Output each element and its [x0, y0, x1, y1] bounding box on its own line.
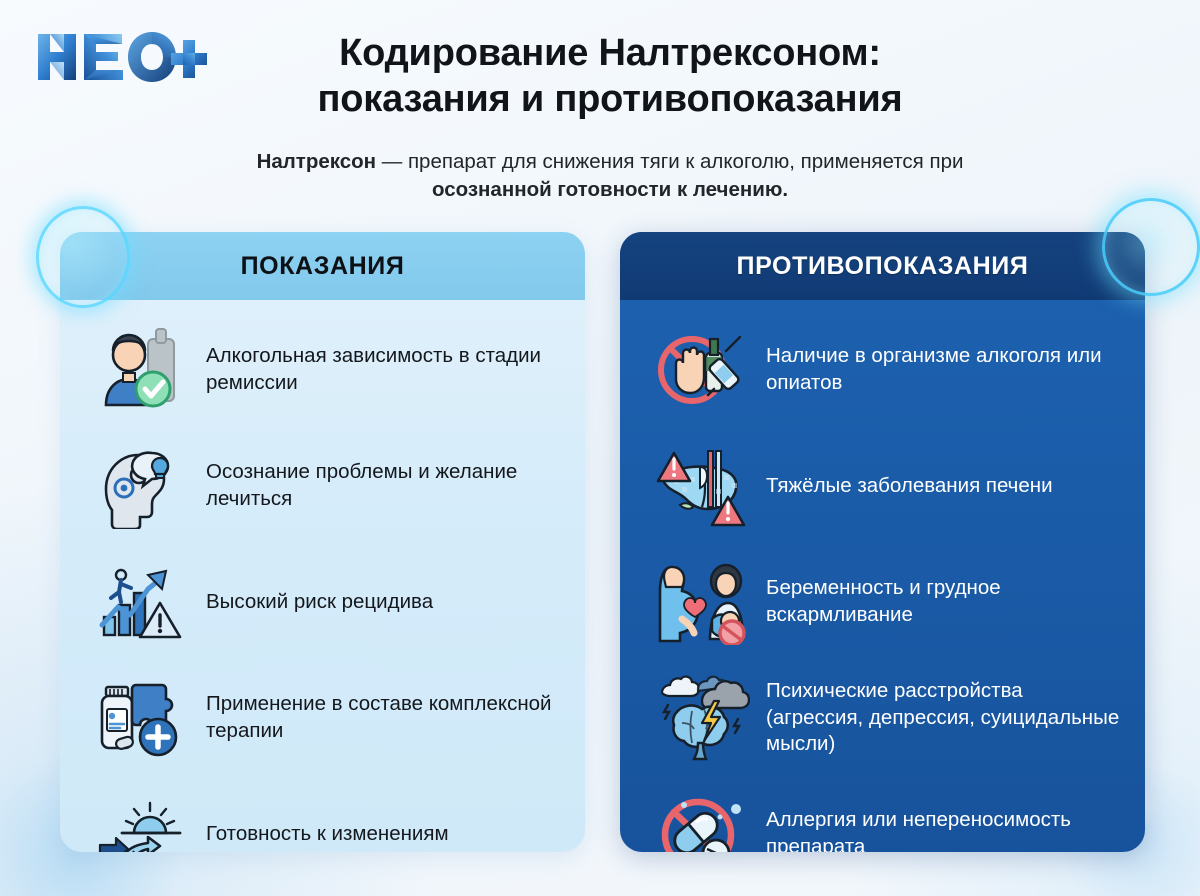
card-indications-heading: ПОКАЗАНИЯ [60, 232, 585, 300]
list-item: Аллергия или непереносимость препарата [620, 776, 1145, 852]
page-title-line2: показания и противопоказания [220, 76, 1000, 122]
card-indications: ПОКАЗАНИЯ Алкогольная зависимость в [60, 232, 585, 852]
pregnancy-breastfeeding-icon [654, 556, 750, 648]
list-item: Осознание проблемы и желание лечиться [60, 428, 585, 544]
list-item: Высокий риск рецидива [60, 544, 585, 660]
sunrise-road-arrow-icon [94, 788, 190, 852]
contraindications-list: Наличие в организме алкоголя или опиатов [620, 300, 1145, 852]
no-alcohol-hand-syringe-icon [654, 324, 750, 416]
list-item-label: Психические расстройства (агрессия, депр… [750, 678, 1121, 758]
list-item: Готовность к изменениям [60, 776, 585, 852]
page-title-line1: Кодирование Налтрексоном: [339, 32, 881, 74]
indications-list: Алкогольная зависимость в стадии ремисси… [60, 300, 585, 852]
list-item-label: Применение в составе комплексной терапии [190, 691, 561, 744]
list-item-label: Готовность к изменениям [190, 821, 561, 848]
page-subtitle: Налтрексон — препарат для снижения тяги … [225, 148, 995, 205]
list-item-label: Наличие в организме алкоголя или опиатов [750, 343, 1121, 396]
brain-storm-icon [654, 672, 750, 764]
list-item-label: Алкогольная зависимость в стадии ремисси… [190, 343, 561, 396]
rising-chart-warning-icon [94, 556, 190, 648]
brand-logo [32, 26, 212, 88]
infographic-root: Кодирование Налтрексоном: показания и пр… [0, 0, 1200, 896]
list-item-label: Тяжёлые заболевания печени [750, 473, 1121, 500]
list-item-label: Осознание проблемы и желание лечиться [190, 459, 561, 512]
medicine-bottle-puzzle-cross-icon [94, 672, 190, 764]
card-contraindications: ПРОТИВОПОКАЗАНИЯ [620, 232, 1145, 852]
list-item-label: Высокий риск рецидива [190, 589, 561, 616]
page-title: Кодирование Налтрексоном: показания и пр… [220, 30, 1000, 123]
list-item-label: Беременность и грудное вскармливание [750, 575, 1121, 628]
card-contraindications-heading: ПРОТИВОПОКАЗАНИЯ [620, 232, 1145, 300]
subtitle-mid: — препарат для снижения тяги к алкоголю,… [376, 150, 963, 173]
liver-warning-icon [654, 440, 750, 532]
head-gears-lightbulb-icon [94, 440, 190, 532]
subtitle-lead: Налтрексон [257, 150, 377, 173]
list-item-label: Аллергия или непереносимость препарата [750, 807, 1121, 852]
list-item: Тяжёлые заболевания печени [620, 428, 1145, 544]
person-bottle-check-icon [94, 324, 190, 416]
list-item: Психические расстройства (агрессия, депр… [620, 660, 1145, 776]
list-item: Алкогольная зависимость в стадии ремисси… [60, 312, 585, 428]
no-pills-allergy-icon [654, 788, 750, 852]
list-item: Беременность и грудное вскармливание [620, 544, 1145, 660]
subtitle-strong: осознанной готовности к лечению. [432, 178, 788, 201]
list-item: Применение в составе комплексной терапии [60, 660, 585, 776]
list-item: Наличие в организме алкоголя или опиатов [620, 312, 1145, 428]
